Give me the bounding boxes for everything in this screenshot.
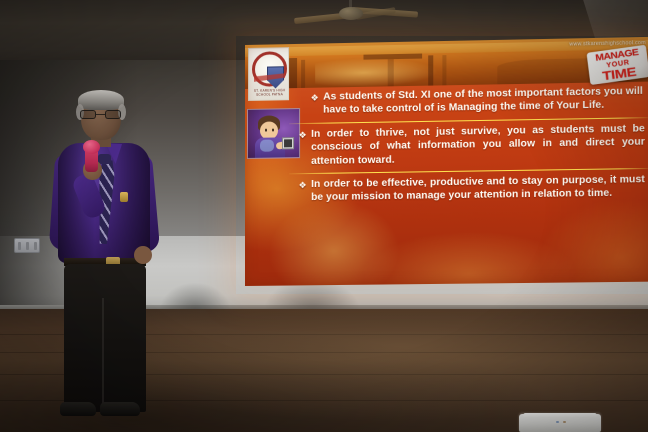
equipment-indicator-light	[556, 421, 559, 423]
bullet-diamond-icon: ❖	[298, 131, 307, 140]
switch-toggle[interactable]	[34, 242, 37, 250]
trouser-crease	[102, 298, 104, 406]
bullet-item: ❖ In order to thrive, not just survive, …	[289, 119, 648, 172]
presenter-shoe	[100, 402, 140, 416]
eyeglass-bridge	[96, 114, 105, 115]
microphone-icon	[83, 140, 100, 154]
tie-knot	[98, 154, 111, 164]
header-glow	[315, 57, 436, 87]
bullet-item: ❖ In order to be effective, productive a…	[289, 170, 648, 209]
eyeglass-lens	[105, 110, 121, 119]
bullet-item: ❖ As students of Std. XI one of the most…	[301, 81, 648, 121]
presenter-shadow	[160, 283, 230, 311]
bullet-text: As students of Std. XI one of the most i…	[323, 85, 645, 118]
eyeglasses-icon	[79, 110, 123, 119]
bullet-diamond-icon: ❖	[310, 94, 319, 103]
header-architecture-shape	[388, 59, 394, 86]
equipment-indicator-light	[563, 421, 566, 423]
white-equipment-box-top	[523, 413, 597, 418]
header-architecture-shape	[289, 58, 297, 88]
slide-bullet-list: ❖ As students of Std. XI one of the most…	[245, 81, 648, 286]
bullet-text: In order to be effective, productive and…	[311, 173, 645, 205]
bullet-diamond-icon: ❖	[298, 181, 307, 190]
switch-toggle[interactable]	[26, 242, 29, 250]
presenter-hair	[78, 90, 124, 110]
header-architecture-shape	[301, 60, 305, 88]
eyeglass-lens	[80, 110, 96, 119]
bullet-text: In order to thrive, not just survive, yo…	[311, 122, 645, 168]
wall-switch-plate[interactable]	[14, 238, 40, 253]
header-architecture-shape	[442, 55, 446, 85]
presenter-right-hand	[134, 246, 152, 264]
pocket-badge	[120, 192, 128, 202]
presenter-trousers	[64, 264, 146, 412]
header-architecture-shape	[428, 55, 433, 85]
auditorium-scene: ST. KAREN'S HIGH SCHOOL PATNA www.stkare…	[0, 0, 648, 432]
presenter-shoe	[60, 402, 96, 416]
ceiling-fan-icon	[339, 7, 363, 20]
crest-ring	[252, 51, 287, 87]
presenter	[38, 88, 170, 328]
projected-slide[interactable]: ST. KAREN'S HIGH SCHOOL PATNA www.stkare…	[245, 37, 648, 286]
switch-toggle[interactable]	[18, 242, 21, 250]
